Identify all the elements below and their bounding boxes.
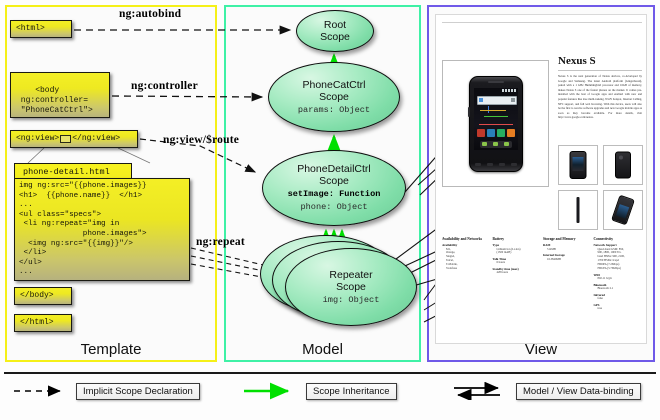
scope-root-title-line1: Root bbox=[324, 19, 346, 31]
diagram-canvas: Template Model View bbox=[0, 0, 660, 420]
phone-button-menu bbox=[487, 163, 493, 166]
code-body-open: <body ng:controller= "PhoneCatCtrl"> bbox=[10, 72, 110, 118]
phone-statusbar-icon bbox=[502, 89, 516, 92]
phone-device-icon bbox=[469, 76, 523, 172]
spec-heading-availability: Availability and Networks bbox=[442, 237, 491, 241]
dashed-arrow-icon bbox=[12, 382, 70, 400]
app-icon-2 bbox=[487, 129, 495, 137]
thumbnail-phone-front[interactable] bbox=[558, 145, 598, 185]
view-divider bbox=[442, 22, 642, 23]
panel-model-label: Model bbox=[226, 341, 419, 358]
phone-button-back bbox=[475, 163, 481, 166]
app-icon-4 bbox=[507, 129, 515, 137]
edge-label-autobind: ng:autobind bbox=[119, 8, 181, 20]
legend-label-scope-inheritance: Scope Inheritance bbox=[306, 383, 397, 400]
scope-phonedetailctrl-title-line2: Scope bbox=[319, 175, 349, 187]
view-specs-table: Availability and Networks Availability M… bbox=[442, 237, 642, 297]
spec-value-gps: true bbox=[594, 307, 643, 311]
legend-item-implicit-scope: Implicit Scope Declaration bbox=[12, 382, 200, 400]
scope-repeater-title-line2: Scope bbox=[336, 281, 366, 293]
scope-phonecatctrl-title-line1: PhoneCatCtrl bbox=[302, 79, 365, 91]
spec-value-battery-talktime: 6 hours bbox=[493, 261, 542, 265]
spec-column-battery: Battery Type Lithium Ion (Li-Ion) (1500 … bbox=[493, 237, 542, 311]
phone-side-button bbox=[468, 107, 470, 117]
spec-value-battery-type-1: (1500 mAH) bbox=[493, 251, 542, 255]
legend: Implicit Scope Declaration Scope Inherit… bbox=[4, 382, 656, 408]
spec-heading-connectivity: Connectivity bbox=[594, 237, 643, 241]
spec-value-battery-standby: 428 hours bbox=[493, 271, 542, 275]
code-body-open-text: <body ng:controller= "PhoneCatCtrl"> bbox=[16, 86, 93, 115]
phone-button-search bbox=[499, 163, 505, 166]
scope-repeater-prop-img: img: Object bbox=[323, 295, 380, 306]
scope-phonedetailctrl-prop-setimage: setImage: Function bbox=[288, 189, 381, 200]
dock-icon-1 bbox=[482, 142, 487, 146]
edge-label-route: ng:view/$route bbox=[163, 134, 239, 146]
code-partial-phone-detail: phone-detail.html img ng:src="{{phone.im… bbox=[14, 163, 190, 281]
green-arrow-icon bbox=[242, 382, 300, 400]
code-html-open: <html> bbox=[10, 20, 72, 38]
panel-template-label: Template bbox=[7, 341, 215, 358]
phone-hero-image bbox=[442, 60, 549, 187]
legend-item-scope-inheritance: Scope Inheritance bbox=[242, 382, 397, 400]
view-phone-title: Nexus S bbox=[558, 55, 596, 67]
spec-value-ram: 512MB bbox=[543, 248, 592, 252]
phone-search-widget bbox=[477, 96, 517, 105]
spec-value-availability-6: Vodafone bbox=[442, 267, 491, 271]
app-icon-3 bbox=[497, 129, 505, 137]
phone-wallpaper-line-red bbox=[479, 124, 513, 126]
scope-root: Root Scope bbox=[296, 10, 374, 52]
spec-value-infrared: false bbox=[594, 297, 643, 301]
code-html-open-text: <html> bbox=[16, 24, 45, 34]
spec-column-connectivity: Connectivity Network Support Quad-band G… bbox=[594, 237, 643, 311]
thumbnail-phone-back[interactable] bbox=[603, 145, 643, 185]
spec-value-internal-storage: 16.3840MB bbox=[543, 258, 592, 262]
phone-screen bbox=[474, 88, 518, 150]
edge-label-controller: ng:controller bbox=[131, 80, 198, 92]
scope-phonecatctrl-prop-params: params: Object bbox=[298, 105, 370, 116]
phone-dock bbox=[480, 141, 512, 148]
dock-icon-2 bbox=[493, 142, 498, 146]
code-ngview: <ng:view></ng:view> bbox=[10, 130, 138, 148]
edge-label-repeat: ng:repeat bbox=[196, 236, 245, 248]
scope-root-title-line2: Scope bbox=[320, 31, 350, 43]
ngview-placeholder-icon bbox=[60, 135, 71, 143]
spec-heading-storage: Storage and Memory bbox=[543, 237, 592, 241]
code-body-close-text: </body> bbox=[20, 291, 54, 301]
partial-filename: phone-detail.html bbox=[14, 163, 132, 179]
spec-value-network-5: HSUPA (5.76Mbps) bbox=[594, 267, 643, 271]
phone-button-home bbox=[511, 163, 517, 166]
scope-phonecatctrl-title-line2: Scope bbox=[319, 91, 349, 103]
spec-value-bluetooth: Bluetooth 2.1 bbox=[594, 287, 643, 291]
spec-value-wifi: 802.11 b/g/n bbox=[594, 277, 643, 281]
view-title-divider bbox=[558, 70, 642, 71]
thumbnail-phone-angle[interactable] bbox=[603, 190, 643, 230]
scope-repeater: Repeater Scope img: Object bbox=[285, 248, 417, 326]
partial-code: img ng:src="{{phone.images}} <h1> {{phon… bbox=[14, 178, 190, 281]
code-body-close: </body> bbox=[14, 287, 72, 305]
phone-hardware-buttons bbox=[475, 163, 517, 168]
code-ngview-close: </ng:view> bbox=[72, 134, 120, 144]
scope-phonedetailctrl-title-line1: PhoneDetailCtrl bbox=[297, 163, 371, 175]
spec-column-availability: Availability and Networks Availability M… bbox=[442, 237, 491, 311]
legend-label-implicit-scope: Implicit Scope Declaration bbox=[76, 383, 200, 400]
view-phone-description: Nexus S is the next generation of Nexus … bbox=[558, 74, 642, 139]
phone-wallpaper-line-green bbox=[484, 116, 508, 118]
legend-divider bbox=[4, 372, 656, 374]
phone-wallpaper-line-yellow bbox=[480, 110, 506, 112]
code-ngview-open: <ng:view> bbox=[16, 134, 59, 144]
phone-earpiece bbox=[488, 81, 504, 83]
thumbnail-phone-side[interactable] bbox=[558, 190, 598, 230]
scope-phonecatctrl: PhoneCatCtrl Scope params: Object bbox=[268, 62, 400, 132]
code-html-close-text: </html> bbox=[20, 318, 54, 328]
legend-item-data-binding: Model / View Data-binding bbox=[452, 382, 641, 400]
scope-phonedetailctrl: PhoneDetailCtrl Scope setImage: Function… bbox=[262, 150, 406, 226]
rendered-view-page: Nexus S Nexus S is the next generation o… bbox=[435, 14, 647, 344]
double-arrow-icon bbox=[452, 382, 510, 400]
dock-icon-3 bbox=[504, 142, 509, 146]
spec-heading-battery: Battery bbox=[493, 237, 542, 241]
phone-app-icons bbox=[477, 129, 515, 140]
code-html-close: </html> bbox=[14, 314, 72, 332]
legend-label-data-binding: Model / View Data-binding bbox=[516, 383, 641, 400]
scope-repeater-title-line1: Repeater bbox=[329, 269, 372, 281]
spec-column-storage: Storage and Memory RAM 512MB Internal St… bbox=[543, 237, 592, 311]
scope-phonedetailctrl-prop-phone: phone: Object bbox=[300, 202, 367, 213]
view-thumbnail-grid bbox=[558, 145, 644, 233]
app-icon-1 bbox=[477, 129, 485, 137]
